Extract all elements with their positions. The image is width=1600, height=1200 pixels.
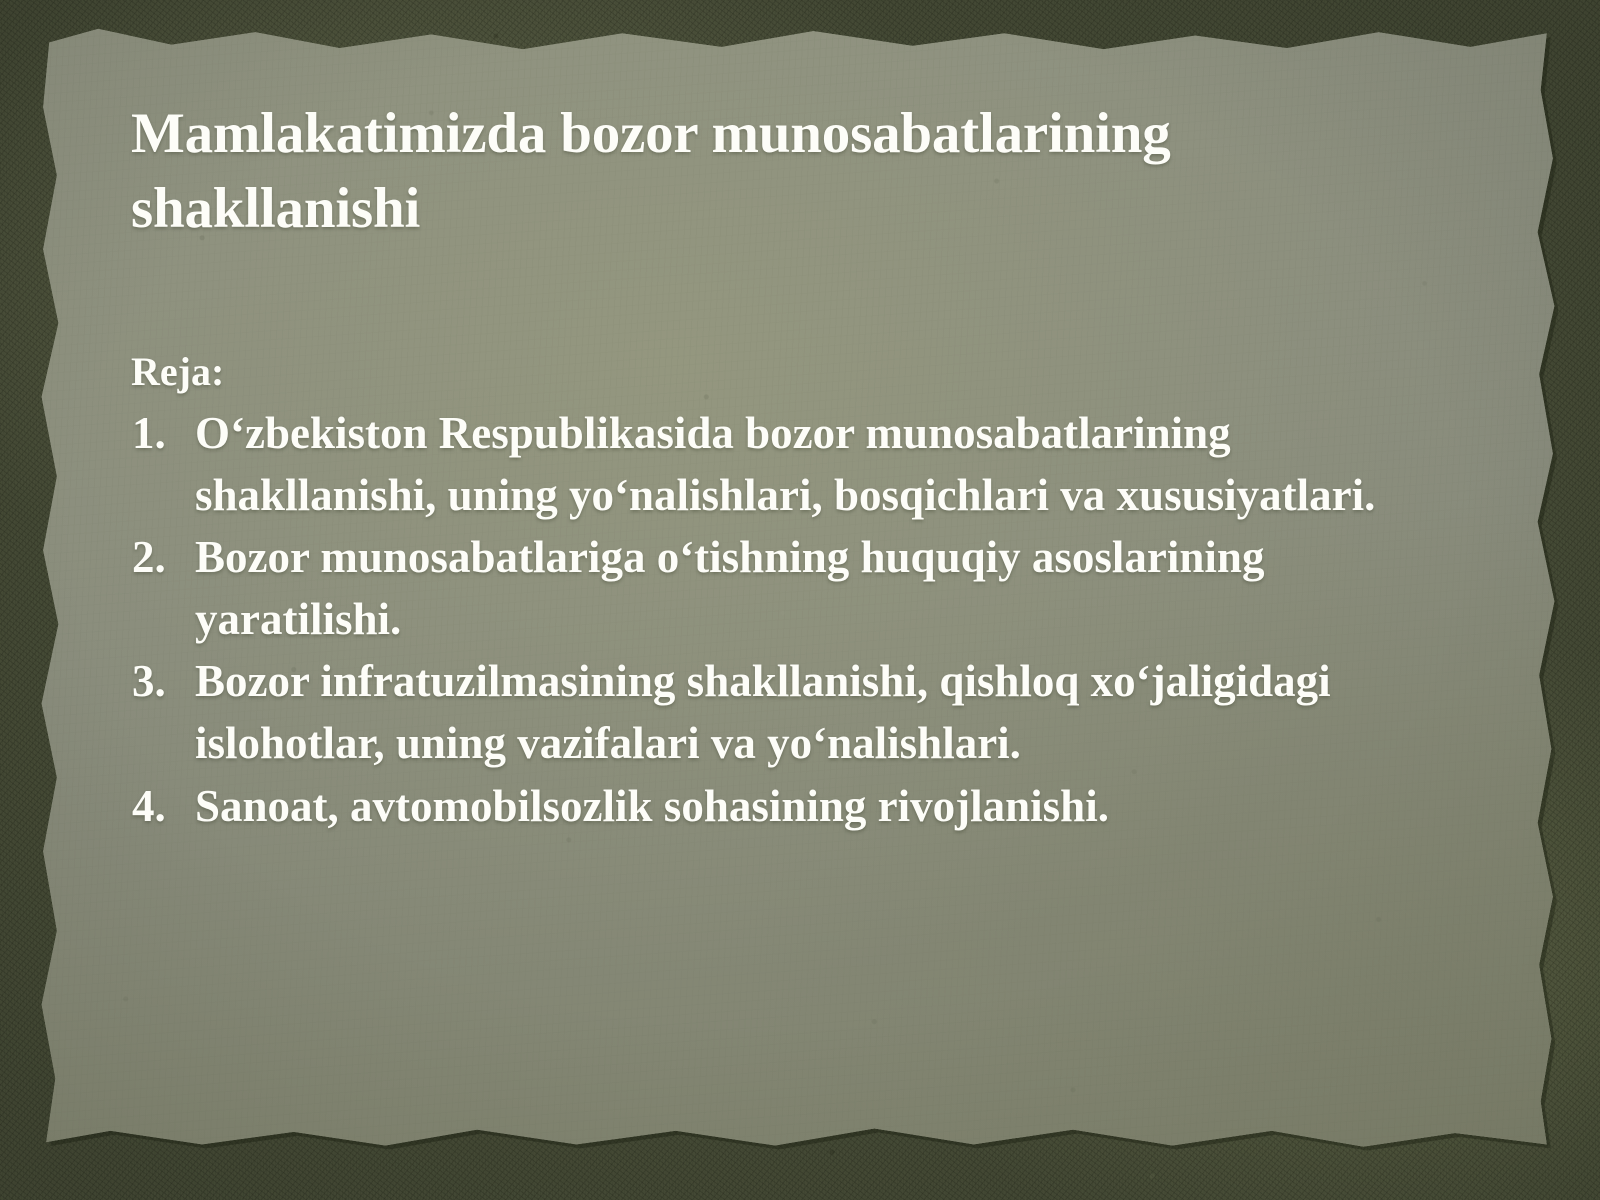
plan-section: Reja: Oʻzbekiston Respublikasida bozor m… [131, 348, 1471, 837]
list-item: Oʻzbekiston Respublikasida bozor munosab… [131, 402, 1471, 526]
list-item: Sanoat, avtomobilsozlik sohasining rivoj… [131, 775, 1471, 837]
plan-list: Oʻzbekiston Respublikasida bozor munosab… [131, 402, 1471, 837]
list-item: Bozor munosabatlariga oʻtishning huquqiy… [131, 526, 1471, 650]
presentation-slide: Mamlakatimizda bozor munosabatlarining s… [0, 0, 1600, 1200]
plan-heading: Reja: [131, 348, 1471, 396]
list-item: Bozor infratuzilmasining shakllanishi, q… [131, 650, 1471, 774]
slide-title: Mamlakatimizda bozor munosabatlarining s… [131, 96, 1461, 246]
